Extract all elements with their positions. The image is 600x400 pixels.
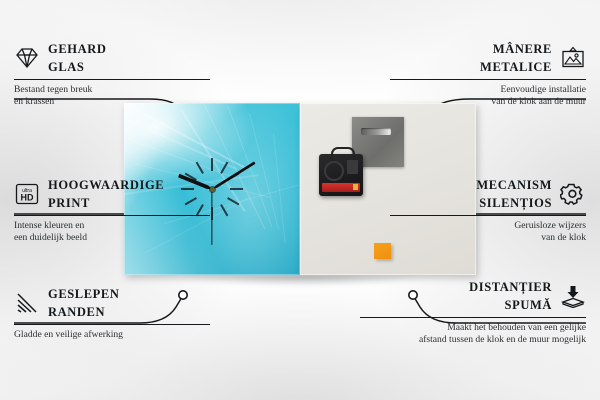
movement-dial — [324, 161, 344, 181]
diamond-icon — [14, 46, 40, 70]
ultra-hd-icon: ultra HD — [14, 182, 40, 206]
clock-center-cap — [210, 187, 215, 192]
foam-spacer — [374, 243, 391, 259]
callout-title-line2: PRINT — [48, 196, 90, 210]
callout-rule — [390, 79, 586, 80]
callout-subtitle-line1: Eenvoudige installatie — [390, 84, 586, 96]
svg-text:HD: HD — [21, 193, 34, 203]
callout-subtitle-line1: Maakt het behouden van een gelijke — [360, 322, 586, 334]
callout-subtitle-line2: een duidelijk beeld — [14, 232, 210, 244]
callout-title-line1: HOOGWAARDIGE — [48, 178, 164, 192]
callout-subtitle-line1: Bestand tegen breuk — [14, 84, 210, 96]
callout-subtitle-line2: van de klok — [390, 232, 586, 244]
callout-subtitle-line2: afstand tussen de klok en de muur mogeli… — [360, 334, 586, 346]
callout-title-line2: METALICE — [480, 60, 552, 74]
callout-rule — [390, 215, 586, 216]
callout-title-line1: MÂNERE — [493, 42, 552, 56]
callout-rule — [14, 215, 210, 216]
callout-title-line1: GESLEPEN — [48, 287, 120, 301]
spacer-arrow-icon — [560, 284, 586, 308]
quartz-movement — [319, 154, 363, 196]
callout-distantier-spuma[interactable]: DISTANȚIER SPUMĂ Maakt het behouden van … — [360, 278, 586, 346]
infographic-canvas: GEHARD GLAS Bestand tegen breuk en krass… — [0, 0, 600, 400]
callout-title-line2: SILENȚIOS — [479, 196, 552, 210]
callout-subtitle-line2: van de klok aan de muur — [390, 96, 586, 108]
callout-title-line2: RANDEN — [48, 305, 105, 319]
callout-manere-metalice[interactable]: MÂNERE METALICE Eenvoudige installatie v… — [390, 40, 586, 108]
movement-block — [347, 160, 358, 174]
callout-mecanism-silentios[interactable]: MECANISM SILENȚIOS Geruisloze wijzers va… — [390, 176, 586, 244]
callout-rule — [360, 317, 586, 318]
callout-subtitle-line1: Geruisloze wijzers — [390, 220, 586, 232]
callout-title-line1: DISTANȚIER — [469, 280, 552, 294]
callout-rule — [14, 79, 210, 80]
callout-subtitle-line1: Gladde en veilige afwerking — [14, 329, 210, 341]
callout-hoogwaardige-print[interactable]: ultra HD HOOGWAARDIGE PRINT Intense kleu… — [14, 176, 210, 244]
callout-subtitle-line1: Intense kleuren en — [14, 220, 210, 232]
callout-gehard-glas[interactable]: GEHARD GLAS Bestand tegen breuk en krass… — [14, 40, 210, 108]
callout-title-line1: MECANISM — [476, 178, 552, 192]
callout-title-line1: GEHARD — [48, 42, 106, 56]
callout-subtitle-line2: en krassen — [14, 96, 210, 108]
callout-title-line2: GLAS — [48, 60, 84, 74]
hanger-loop — [331, 147, 355, 161]
callout-title-line2: SPUMĂ — [505, 298, 552, 312]
callout-geslepen-randen[interactable]: GESLEPEN RANDEN Gladde en veilige afwerk… — [14, 285, 210, 341]
callout-rule — [14, 324, 210, 325]
beveled-edges-icon — [14, 291, 40, 315]
battery — [322, 183, 360, 192]
hanger-slot — [361, 128, 391, 135]
picture-frame-icon — [560, 46, 586, 70]
gear-icon — [560, 182, 586, 206]
